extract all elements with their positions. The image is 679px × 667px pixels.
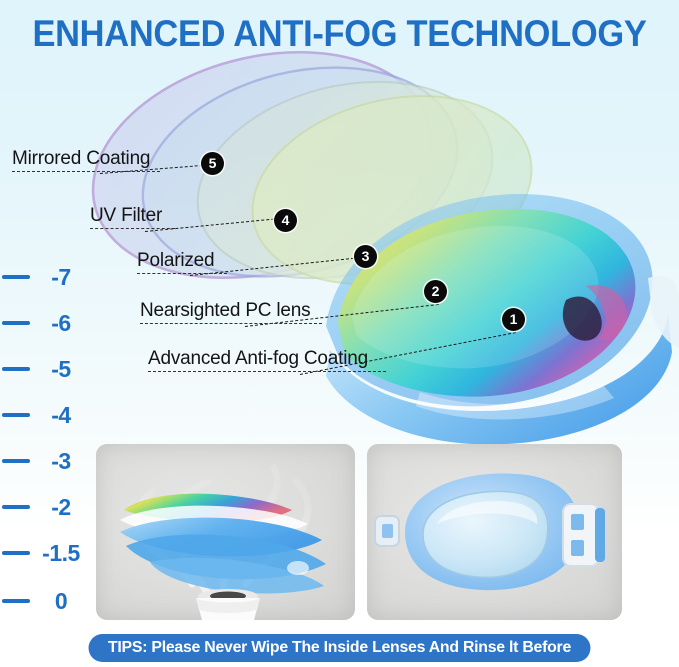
scale-value: -2 — [30, 494, 92, 520]
callout-label: Mirrored Coating — [12, 148, 160, 170]
scale-tick-icon — [2, 459, 30, 463]
page-title: ENHANCED ANTI-FOG TECHNOLOGY — [24, 12, 655, 56]
scale-value: -6 — [30, 310, 92, 336]
callout-label: UV Filter — [90, 205, 175, 227]
scale-value: -3 — [30, 448, 92, 474]
scale-tick-icon — [2, 275, 30, 279]
scale-row-minus6: -6 — [0, 310, 92, 336]
badge-1: 1 — [502, 308, 525, 331]
scale-tick-icon — [2, 321, 30, 325]
callout-underline — [90, 228, 175, 229]
tips-banner: TIPS: Please Never Wipe The Inside Lense… — [89, 634, 591, 662]
scale-row-minus3: -3 — [0, 448, 92, 474]
steam-test-illustration — [96, 444, 355, 620]
scale-value: 0 — [30, 588, 92, 614]
product-infographic: ENHANCED ANTI-FOG TECHNOLOGY — [0, 0, 679, 667]
callout-label: Advanced Anti-fog Coating — [148, 348, 386, 370]
callout-underline — [137, 273, 227, 274]
scale-tick-icon — [2, 367, 30, 371]
scale-row-minus4: -4 — [0, 402, 92, 428]
scale-row-minus2: -2 — [0, 494, 92, 520]
goggle-lens-closeup-photo — [367, 444, 622, 620]
callout-advanced-antifog-coating: Advanced Anti-fog Coating — [148, 348, 386, 372]
scale-row-zero: 0 — [0, 588, 92, 614]
scale-tick-icon — [2, 551, 30, 555]
badge-3: 3 — [354, 245, 377, 268]
scale-row-minus5: -5 — [0, 356, 92, 382]
scale-tick-icon — [2, 413, 30, 417]
scale-tick-icon — [2, 599, 30, 603]
badge-4: 4 — [274, 209, 297, 232]
scale-value: -1.5 — [30, 540, 92, 566]
scale-row-minus1point5: -1.5 — [0, 540, 92, 566]
callout-polarized: Polarized — [137, 250, 227, 274]
callout-nearsighted-pc-lens: Nearsighted PC lens — [140, 300, 322, 324]
callout-label: Nearsighted PC lens — [140, 300, 322, 322]
callout-underline — [148, 371, 386, 372]
callout-mirrored-coating: Mirrored Coating — [12, 148, 160, 172]
goggles-over-steam-photo — [96, 444, 355, 620]
scale-value: -7 — [30, 264, 92, 290]
callout-underline — [12, 171, 160, 172]
scale-value: -5 — [30, 356, 92, 382]
scale-tick-icon — [2, 505, 30, 509]
scale-value: -4 — [30, 402, 92, 428]
badge-2: 2 — [424, 280, 447, 303]
single-goggle-cup-illustration — [367, 444, 622, 620]
callout-uv-filter: UV Filter — [90, 205, 175, 229]
callout-label: Polarized — [137, 250, 227, 272]
badge-5: 5 — [201, 152, 224, 175]
scale-row-minus7: -7 — [0, 264, 92, 290]
callout-underline — [140, 323, 322, 324]
